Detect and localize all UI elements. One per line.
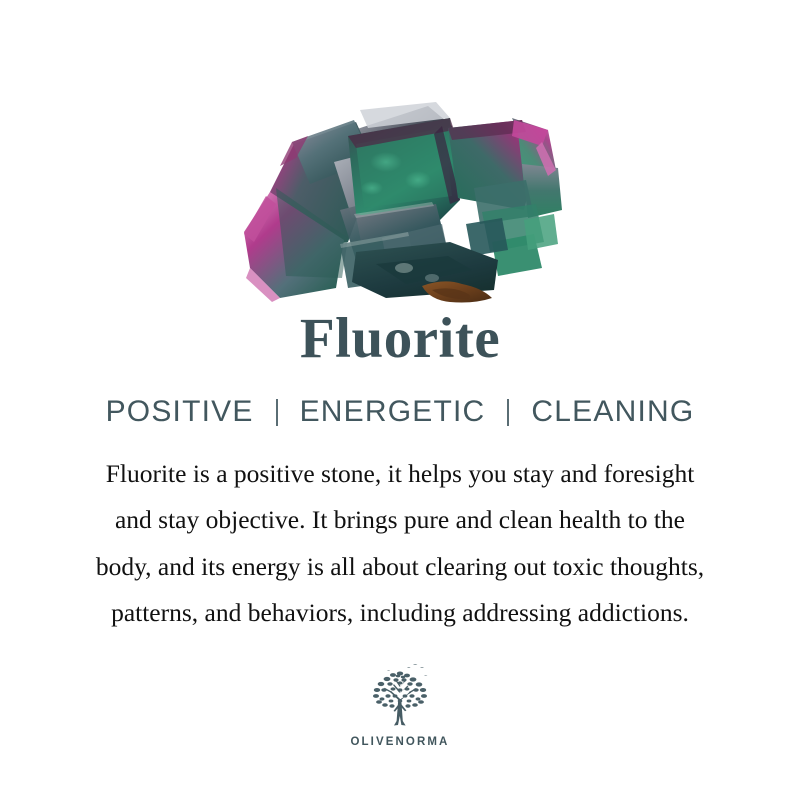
product-info-card: Fluorite POSITIVE ENERGETIC CLEANING Flu… <box>0 0 800 800</box>
hero-image-area <box>0 0 800 310</box>
keyword-positive: POSITIVE <box>106 397 254 427</box>
description-line: and stay objective. It brings pure and c… <box>20 497 780 543</box>
description-line: patterns, and behaviors, including addre… <box>20 590 780 636</box>
keyword-cleaning: CLEANING <box>531 397 694 427</box>
brand-wordmark: OLIVENORMA <box>351 737 450 749</box>
keyword-energetic: ENERGETIC <box>300 397 486 427</box>
description-line: Fluorite is a positive stone, it helps y… <box>20 451 780 497</box>
brand-logo: OLIVENORMA <box>351 659 450 749</box>
page-title: Fluorite <box>300 310 500 367</box>
keyword-separator-2 <box>507 399 509 426</box>
fluorite-crystal-image <box>236 92 566 304</box>
keyword-separator-1 <box>276 399 278 426</box>
olive-tree-icon <box>363 659 437 733</box>
description-line: body, and its energy is all about cleari… <box>20 544 780 590</box>
description-text: Fluorite is a positive stone, it helps y… <box>20 451 780 637</box>
keyword-list: POSITIVE ENERGETIC CLEANING <box>106 397 695 427</box>
